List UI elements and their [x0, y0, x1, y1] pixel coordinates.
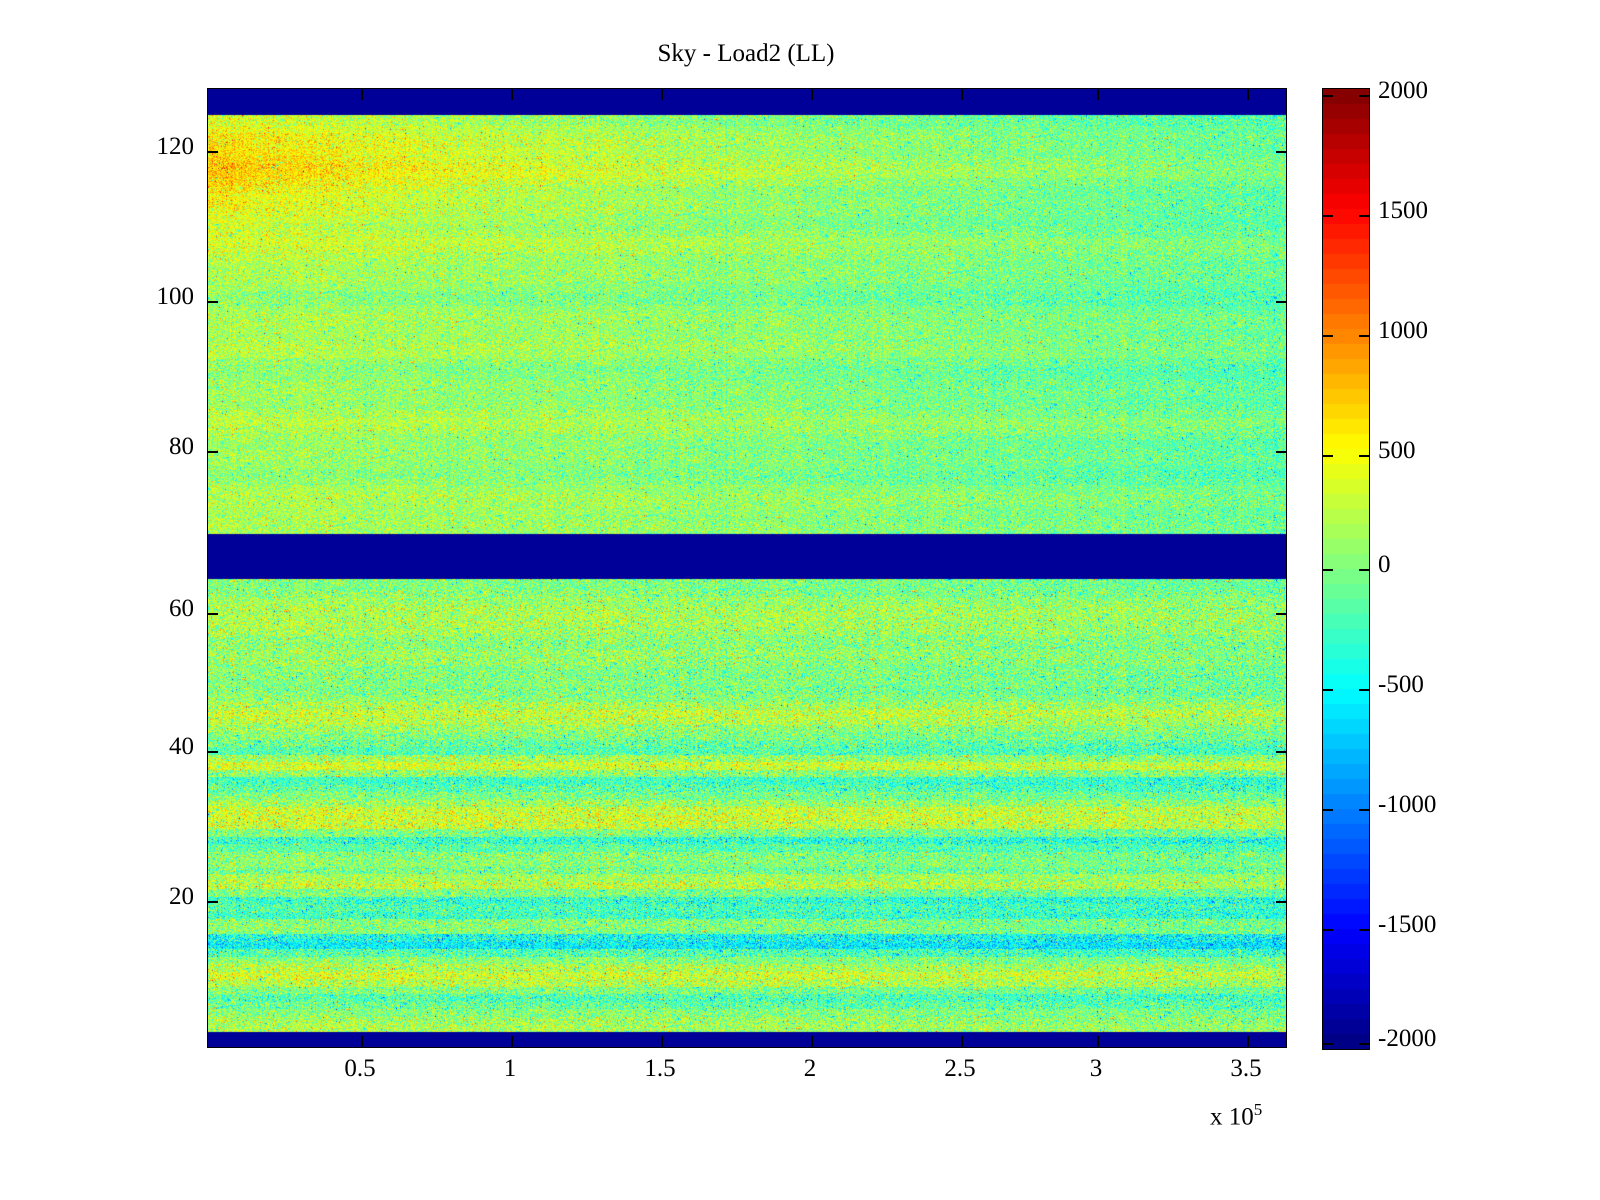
colorbar-tick-mark-right	[1359, 1043, 1369, 1045]
x-tick-mark	[1097, 1036, 1099, 1047]
x-tick-mark-top	[1097, 89, 1099, 100]
colorbar-label-2000: 2000	[1378, 77, 1428, 105]
x-axis-label-3: 3	[1056, 1055, 1136, 1083]
y-tick-mark-right	[1276, 301, 1286, 303]
y-tick-mark-right	[1276, 901, 1286, 903]
colorbar-tick-mark-right	[1359, 689, 1369, 691]
x-axis-label-1: 1	[470, 1055, 550, 1083]
colorbar-tick-mark-right	[1359, 335, 1369, 337]
y-axis-label-80: 80	[169, 433, 194, 461]
colorbar-tick-mark-right	[1359, 929, 1369, 931]
colorbar-tick-mark	[1323, 929, 1333, 931]
y-tick-mark	[208, 301, 218, 303]
x-tick-mark	[361, 1036, 363, 1047]
heatmap-axes[interactable]	[207, 88, 1287, 1048]
colorbar-tick-mark-right	[1359, 455, 1369, 457]
x-tick-mark	[1247, 1036, 1249, 1047]
page-title: Sky - Load2 (LL)	[207, 40, 1285, 68]
colorbar-tick-mark	[1323, 689, 1333, 691]
x-axis-label-1.5: 1.5	[620, 1055, 700, 1083]
colorbar-tick-mark	[1323, 95, 1333, 97]
colorbar-label-neg1500: -1500	[1378, 911, 1436, 939]
colorbar-tick-mark-right	[1359, 215, 1369, 217]
y-tick-mark-right	[1276, 613, 1286, 615]
colorbar-label-1500: 1500	[1378, 197, 1428, 225]
colorbar-tick-mark	[1323, 335, 1333, 337]
y-tick-mark	[208, 901, 218, 903]
x-axis-label-3.5: 3.5	[1206, 1055, 1286, 1083]
y-tick-mark-right	[1276, 151, 1286, 153]
colorbar-label-0: 0	[1378, 551, 1391, 579]
colorbar-tick-mark	[1323, 215, 1333, 217]
y-tick-mark	[208, 751, 218, 753]
y-axis-label-20: 20	[169, 883, 194, 911]
x-tick-mark-top	[511, 89, 513, 100]
x-tick-mark-top	[811, 89, 813, 100]
x-axis-label-2: 2	[770, 1055, 850, 1083]
colorbar-tick-mark	[1323, 809, 1333, 811]
colorbar-label-neg1000: -1000	[1378, 791, 1436, 819]
x-axis-label-2.5: 2.5	[920, 1055, 1000, 1083]
colorbar-tick-mark	[1323, 455, 1333, 457]
x-axis-label-0.5: 0.5	[320, 1055, 400, 1083]
x-tick-mark-top	[961, 89, 963, 100]
x-tick-mark	[961, 1036, 963, 1047]
x-tick-mark	[811, 1036, 813, 1047]
colorbar[interactable]	[1322, 88, 1370, 1050]
y-tick-mark-right	[1276, 451, 1286, 453]
y-tick-mark	[208, 151, 218, 153]
x-tick-mark	[661, 1036, 663, 1047]
x-axis-exponent-label: x 105	[1210, 1100, 1262, 1131]
y-tick-mark	[208, 613, 218, 615]
x-exponent-base: x 10	[1210, 1103, 1254, 1130]
y-axis-label-60: 60	[169, 595, 194, 623]
y-tick-mark-right	[1276, 751, 1286, 753]
x-tick-mark	[511, 1036, 513, 1047]
colorbar-tick-mark-right	[1359, 569, 1369, 571]
colorbar-tick-mark	[1323, 569, 1333, 571]
y-axis-label-120: 120	[157, 133, 195, 161]
x-tick-mark-top	[361, 89, 363, 100]
colorbar-label-500: 500	[1378, 437, 1416, 465]
x-tick-mark-top	[1247, 89, 1249, 100]
colorbar-tick-mark-right	[1359, 809, 1369, 811]
x-tick-mark-top	[661, 89, 663, 100]
colorbar-tick-mark	[1323, 1043, 1333, 1045]
colorbar-label-1000: 1000	[1378, 317, 1428, 345]
colorbar-label-neg500: -500	[1378, 671, 1424, 699]
colorbar-label-neg2000: -2000	[1378, 1025, 1436, 1053]
figure-canvas: Sky - Load2 (LL) 12010080604020 0.511.52…	[0, 0, 1600, 1200]
colorbar-tick-mark-right	[1359, 95, 1369, 97]
y-axis-label-100: 100	[157, 283, 195, 311]
x-exponent-power: 5	[1254, 1100, 1263, 1119]
y-tick-mark	[208, 451, 218, 453]
heatmap-image	[208, 89, 1286, 1047]
y-axis-label-40: 40	[169, 733, 194, 761]
